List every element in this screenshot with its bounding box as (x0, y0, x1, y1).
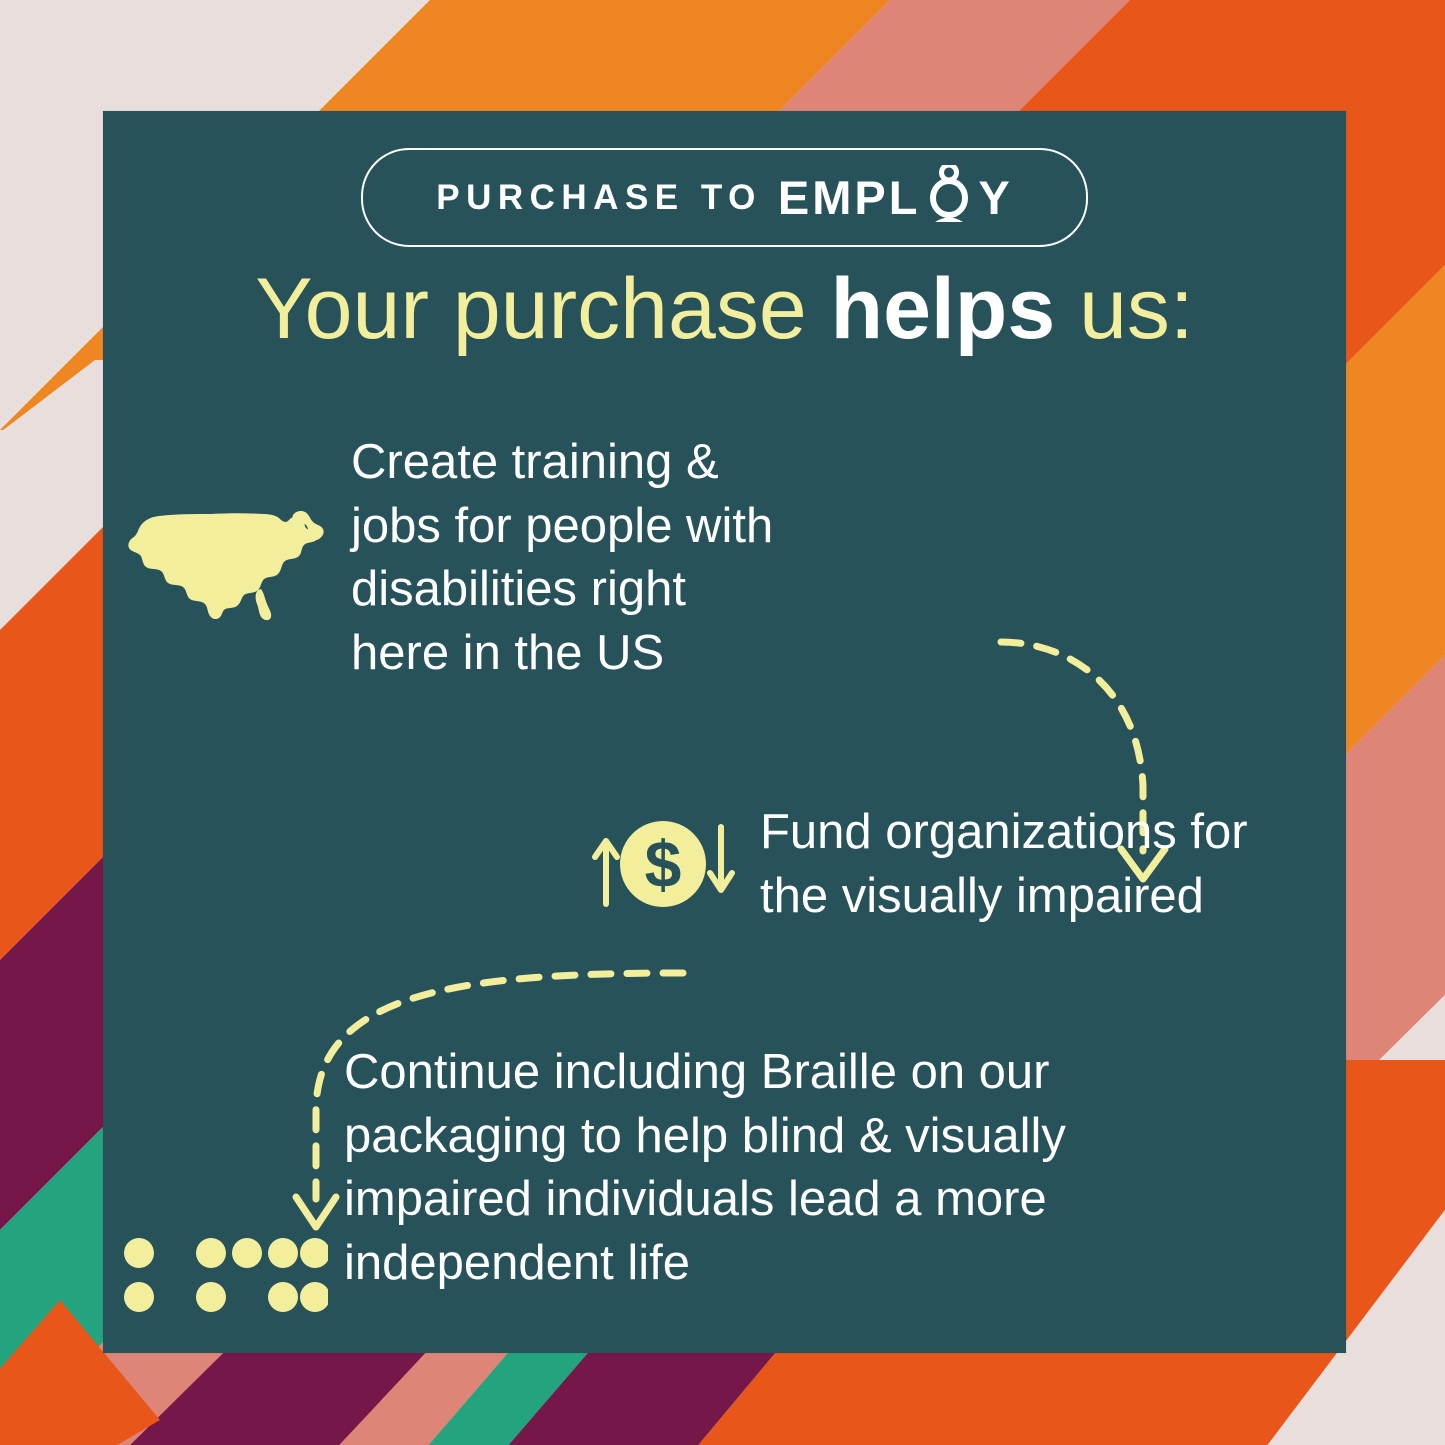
badge-label-bold: EMPL Y (778, 174, 1013, 221)
benefit-text-braille-packaging: Continue including Braille on our packag… (344, 1041, 1066, 1296)
braille-dots-icon (123, 1231, 328, 1321)
purchase-to-employ-badge: PURCHASE TO EMPL Y (361, 148, 1088, 247)
logo-badge-wrapper: PURCHASE TO EMPL Y (103, 148, 1346, 247)
infographic-canvas: PURCHASE TO EMPL Y (0, 0, 1445, 1445)
badge-empl-text: EMPL (778, 174, 921, 221)
dollar-coin-icon: $ (588, 809, 738, 919)
person-o-icon (924, 174, 974, 221)
svg-text:$: $ (645, 827, 682, 901)
badge-y-text: Y (978, 174, 1012, 221)
headline: Your purchase helps us: (103, 266, 1346, 352)
badge-text: PURCHASE TO EMPL Y (436, 174, 1013, 221)
benefit-item-create-jobs: Create training & jobs for people with d… (123, 431, 773, 686)
headline-part-1: Your purchase (255, 261, 830, 357)
content-card: PURCHASE TO EMPL Y (103, 111, 1346, 1353)
badge-label-light: PURCHASE TO (436, 180, 778, 215)
us-map-icon (123, 489, 333, 629)
benefit-item-fund-organizations: $ Fund organizations for the visually im… (588, 801, 1248, 928)
benefit-item-braille-packaging: Continue including Braille on our packag… (123, 1041, 1066, 1321)
headline-part-2: helps (831, 261, 1056, 357)
headline-part-3: us: (1055, 261, 1194, 357)
benefit-text-create-jobs: Create training & jobs for people with d… (351, 431, 773, 686)
benefit-text-fund-organizations: Fund organizations for the visually impa… (760, 801, 1248, 928)
